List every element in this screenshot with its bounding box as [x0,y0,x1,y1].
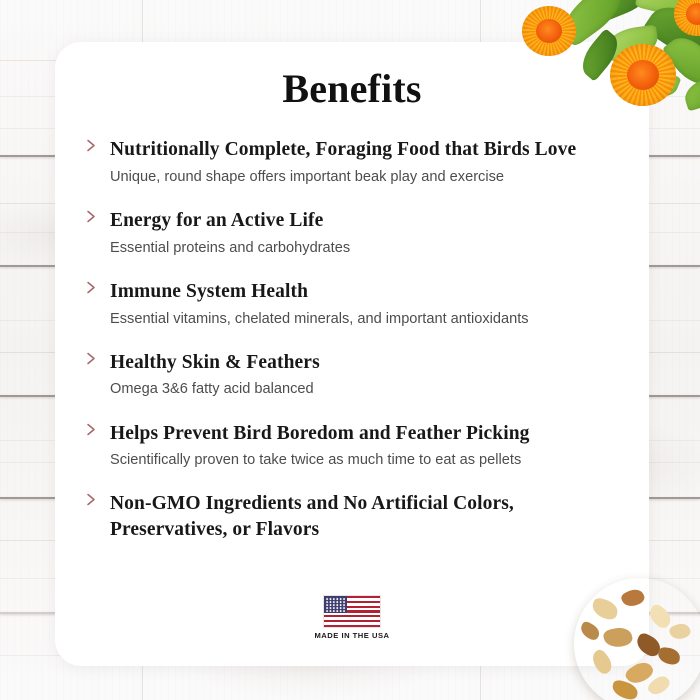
benefit-heading: Healthy Skin & Feathers [110,350,615,376]
benefit-heading: Immune System Health [110,279,615,305]
benefit-subtext: Essential proteins and carbohydrates [110,238,615,259]
chevron-right-icon [85,493,98,506]
benefit-item: Nutritionally Complete, Foraging Food th… [55,137,649,188]
benefits-list: Nutritionally Complete, Foraging Food th… [55,137,649,543]
chevron-right-icon [85,352,98,365]
page-title: Benefits [55,67,649,111]
benefit-heading: Non-GMO Ingredients and No Artificial Co… [110,491,615,542]
flag-stars [325,597,346,612]
benefit-subtext: Essential vitamins, chelated minerals, a… [110,309,615,330]
chevron-right-icon [85,281,98,294]
benefits-card: Benefits Nutritionally Complete, Foragin… [55,42,649,666]
made-in-usa-badge: MADE IN THE USA [55,595,649,640]
benefit-item: Non-GMO Ingredients and No Artificial Co… [55,491,649,542]
product-benefits-graphic: Benefits Nutritionally Complete, Foragin… [0,0,700,700]
benefit-heading: Energy for an Active Life [110,208,615,234]
benefit-item: Immune System Health Essential vitamins,… [55,279,649,330]
benefit-subtext: Unique, round shape offers important bea… [110,167,615,188]
benefit-item: Helps Prevent Bird Boredom and Feather P… [55,421,649,472]
bird-food-ball-image [574,578,700,700]
chevron-right-icon [85,210,98,223]
benefit-subtext: Scientifically proven to take twice as m… [110,450,615,471]
benefit-heading: Nutritionally Complete, Foraging Food th… [110,137,615,163]
chevron-right-icon [85,423,98,436]
benefit-item: Energy for an Active Life Essential prot… [55,208,649,259]
benefit-heading: Helps Prevent Bird Boredom and Feather P… [110,421,615,447]
benefit-item: Healthy Skin & Feathers Omega 3&6 fatty … [55,350,649,401]
chevron-right-icon [85,139,98,152]
made-in-usa-caption: MADE IN THE USA [314,631,389,640]
benefit-subtext: Omega 3&6 fatty acid balanced [110,379,615,400]
us-flag-icon [323,595,381,628]
flag-canton [324,596,347,613]
